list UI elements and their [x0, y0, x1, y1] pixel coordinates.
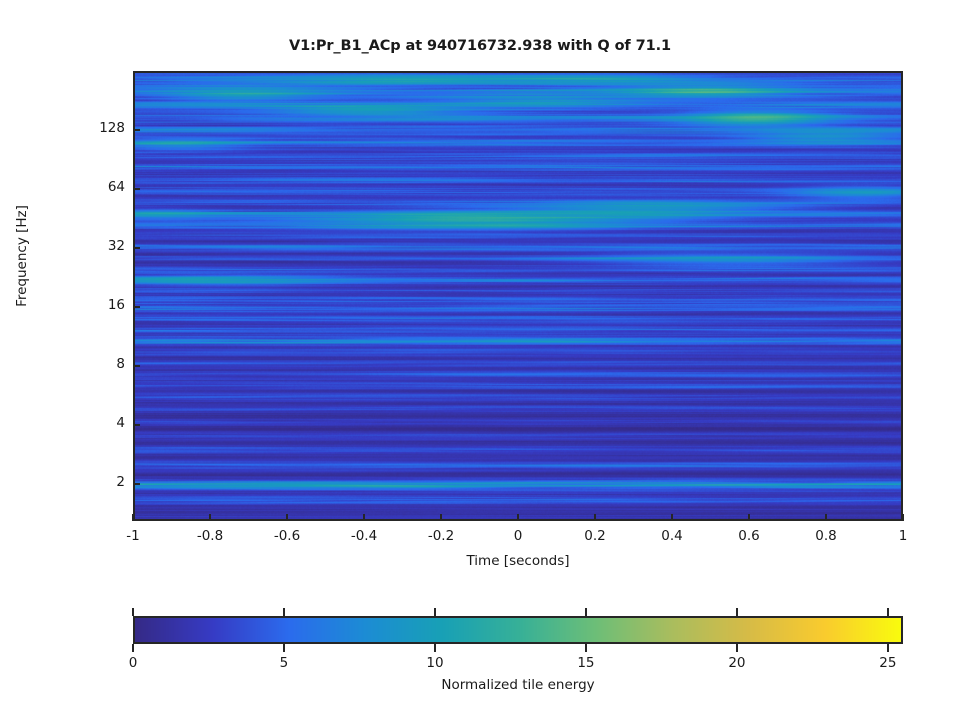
- colorbar-tick-mark-bottom: [434, 644, 436, 652]
- y-tick-label: 8: [55, 356, 125, 372]
- x-tick-mark: [132, 514, 134, 521]
- y-tick-mark: [133, 424, 140, 426]
- x-tick-mark: [825, 514, 827, 521]
- x-axis-label: Time [seconds]: [133, 553, 903, 569]
- colorbar-tick-label: 10: [390, 655, 480, 671]
- y-tick-label: 4: [55, 415, 125, 431]
- colorbar-tick-mark-bottom: [887, 644, 889, 652]
- y-tick-label: 16: [55, 297, 125, 313]
- x-tick-mark: [286, 514, 288, 521]
- spectrogram-axes[interactable]: [133, 71, 903, 521]
- colorbar-tick-mark-bottom: [132, 644, 134, 652]
- x-tick-mark: [594, 514, 596, 521]
- colorbar-tick-mark-top: [887, 608, 889, 616]
- y-axis-label: Frequency [Hz]: [14, 106, 30, 406]
- y-tick-label: 64: [55, 179, 125, 195]
- x-tick-mark: [363, 514, 365, 521]
- x-tick-mark: [209, 514, 211, 521]
- y-tick-label: 2: [55, 474, 125, 490]
- colorbar[interactable]: [133, 616, 903, 644]
- y-tick-label: 32: [55, 238, 125, 254]
- y-tick-mark: [133, 247, 140, 249]
- y-tick-mark: [133, 365, 140, 367]
- x-tick-label: 1: [858, 528, 948, 544]
- x-tick-mark: [440, 514, 442, 521]
- y-tick-label: 128: [55, 120, 125, 136]
- colorbar-tick-label: 5: [239, 655, 329, 671]
- colorbar-tick-mark-bottom: [736, 644, 738, 652]
- colorbar-label: Normalized tile energy: [133, 677, 903, 693]
- page-title: V1:Pr_B1_ACp at 940716732.938 with Q of …: [0, 38, 960, 54]
- colorbar-tick-mark-bottom: [585, 644, 587, 652]
- y-tick-mark: [133, 306, 140, 308]
- x-tick-mark: [671, 514, 673, 521]
- colorbar-tick-mark-top: [585, 608, 587, 616]
- x-tick-mark: [517, 514, 519, 521]
- colorbar-tick-mark-top: [736, 608, 738, 616]
- colorbar-tick-label: 25: [843, 655, 933, 671]
- colorbar-tick-label: 0: [88, 655, 178, 671]
- colorbar-gradient: [135, 618, 901, 642]
- colorbar-tick-label: 15: [541, 655, 631, 671]
- y-tick-mark: [133, 483, 140, 485]
- colorbar-tick-mark-top: [434, 608, 436, 616]
- q-transform-figure: V1:Pr_B1_ACp at 940716732.938 with Q of …: [0, 0, 960, 720]
- x-tick-mark: [748, 514, 750, 521]
- y-tick-mark: [133, 188, 140, 190]
- colorbar-tick-mark-bottom: [283, 644, 285, 652]
- colorbar-tick-mark-top: [283, 608, 285, 616]
- spectrogram-image: [135, 73, 901, 519]
- colorbar-tick-label: 20: [692, 655, 782, 671]
- y-tick-mark: [133, 129, 140, 131]
- x-tick-mark: [902, 514, 904, 521]
- colorbar-tick-mark-top: [132, 608, 134, 616]
